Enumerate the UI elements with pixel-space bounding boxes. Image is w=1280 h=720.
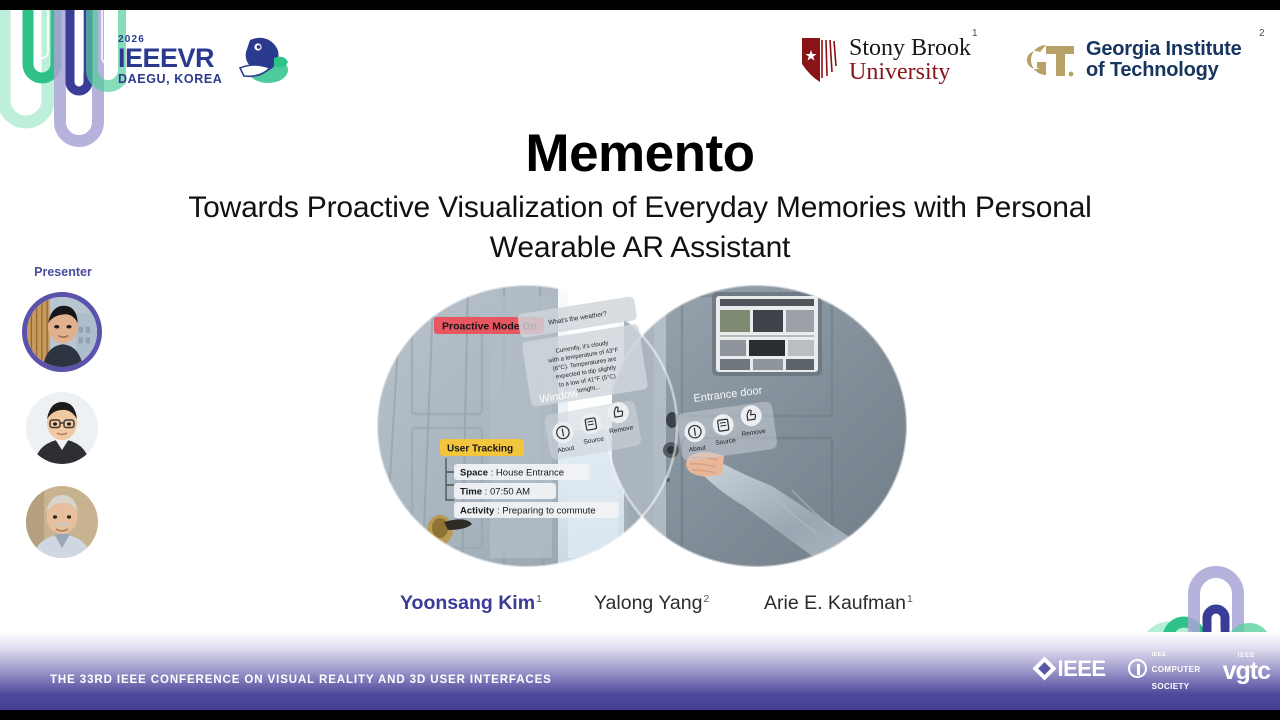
ieee-computer-society-logo: IEEE COMPUTER SOCIETY (1128, 644, 1201, 694)
avatar-photo-2 (26, 392, 98, 464)
avatar-yalong-yang (26, 392, 98, 464)
stony-brook-university-logo: Stony Brook University (800, 36, 971, 85)
subtitle-line-1: Towards Proactive Visualization of Every… (188, 191, 966, 224)
svg-text:Time : 07:50 AM: Time : 07:50 AM (460, 487, 530, 498)
gt-line2: of Technology (1086, 60, 1242, 81)
gt-monogram-icon (1020, 38, 1078, 82)
computer-society-icon (1128, 659, 1147, 678)
footer-logo-group: IEEE IEEE COMPUTER SOCIETY IEEE vgtc (1036, 644, 1270, 694)
author-arie-kaufman: Arie E. Kaufman1 (764, 592, 913, 615)
avatar-presenter-yoonsang-kim (22, 292, 102, 372)
affiliation-marker-1: 1 (972, 28, 978, 39)
cs-line2: SOCIETY (1152, 682, 1190, 691)
ar-headset-view-figure: Proactive Mode On What's the weather? Cu… (372, 278, 912, 578)
ieee-diamond-icon (1033, 657, 1057, 681)
vr-mascot-icon (230, 32, 292, 88)
author-yoonsang-kim: Yoonsang Kim1 (400, 592, 542, 615)
sbu-shield-icon (800, 36, 840, 84)
presenter-label: Presenter (28, 265, 98, 279)
svg-text:Space : House Entrance: Space : House Entrance (460, 468, 564, 479)
logo-location: DAEGU, KOREA (118, 73, 222, 86)
ieee-vgtc-logo: IEEE vgtc (1223, 653, 1270, 684)
author-yalong-yang: Yalong Yang2 (594, 592, 709, 615)
cs-line1: COMPUTER (1152, 665, 1201, 674)
avatar-photo-1 (27, 297, 97, 367)
ieee-logo: IEEE (1036, 656, 1105, 682)
footer-conference-name: THE 33RD IEEE CONFERENCE ON VISUAL REALI… (50, 674, 552, 686)
tracking-row-space: Space : House Entrance (454, 464, 589, 480)
news-panel[interactable] (712, 292, 822, 376)
tracking-row-time: Time : 07:50 AM (454, 483, 556, 499)
cs-line0: IEEE (1152, 652, 1167, 658)
page-title: Memento (0, 123, 1280, 184)
author-name: Yalong Yang (594, 592, 702, 614)
logo-name: IEEEVR (118, 46, 222, 72)
letterbox-top (0, 0, 1280, 10)
svg-text:Activity : Preparing to commut: Activity : Preparing to commute (460, 506, 596, 517)
ieee-vr-conference-logo: 2026 IEEEVR DAEGU, KOREA (118, 32, 292, 88)
sbu-line2: University (849, 60, 971, 84)
author-affiliation-marker: 2 (703, 593, 709, 605)
author-name: Yoonsang Kim (400, 592, 535, 614)
letterbox-bottom (0, 710, 1280, 720)
author-name: Arie E. Kaufman (764, 592, 906, 614)
author-affiliation-marker: 1 (907, 593, 913, 605)
avatar-photo-3 (26, 486, 98, 558)
svg-text:User Tracking: User Tracking (447, 444, 513, 455)
affiliation-marker-2: 2 (1259, 28, 1265, 39)
avatar-arie-kaufman (26, 486, 98, 558)
slide-canvas: 2026 IEEEVR DAEGU, KOREA (0, 10, 1280, 710)
assistant-weather-panel[interactable]: What's the weather? Currently, it's clou… (517, 296, 648, 407)
gt-line1: Georgia Institute (1086, 39, 1242, 60)
page-subtitle: Towards Proactive Visualization of Every… (140, 188, 1140, 268)
sbu-line1: Stony Brook (849, 36, 971, 60)
ieee-label: IEEE (1057, 656, 1105, 682)
author-list: Yoonsang Kim1 Yalong Yang2 Arie E. Kaufm… (372, 592, 932, 626)
conference-footer-band: THE 33RD IEEE CONFERENCE ON VISUAL REALI… (0, 632, 1280, 710)
presentation-slide: 2026 IEEEVR DAEGU, KOREA (0, 0, 1280, 720)
vgtc-main-label: vgtc (1223, 659, 1270, 684)
author-affiliation-marker: 1 (536, 593, 542, 605)
georgia-tech-logo: Georgia Institute of Technology (1020, 38, 1242, 82)
tracking-row-activity: Activity : Preparing to commute (454, 502, 619, 518)
